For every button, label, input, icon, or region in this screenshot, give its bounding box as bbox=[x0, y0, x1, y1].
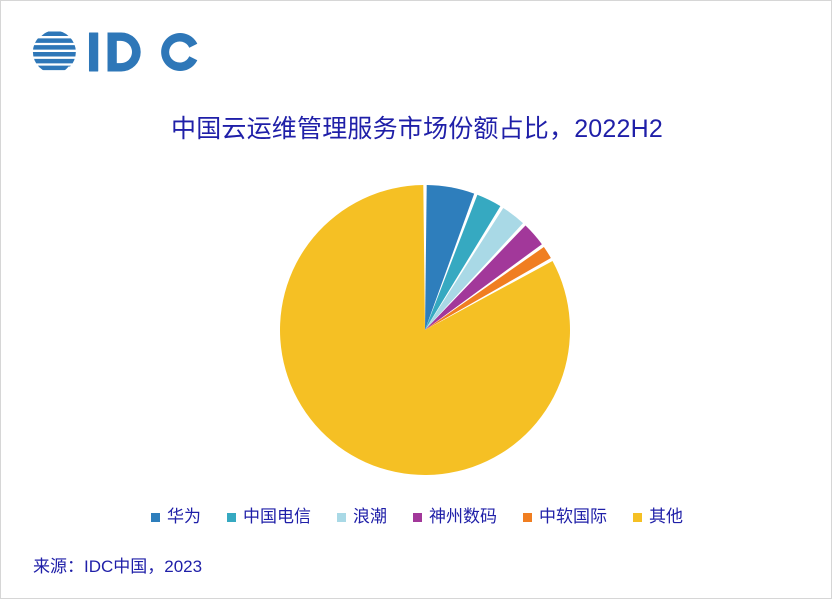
globe-stripes-icon bbox=[29, 29, 80, 75]
pie-chart-plot-area bbox=[1, 161, 832, 491]
legend-swatch-icon bbox=[413, 513, 422, 522]
legend-item[interactable]: 神州数码 bbox=[413, 506, 497, 528]
legend-swatch-icon bbox=[633, 513, 642, 522]
legend-item[interactable]: 其他 bbox=[633, 506, 683, 528]
idc-wordmark-icon bbox=[88, 30, 199, 74]
legend-item-label: 华为 bbox=[167, 506, 201, 528]
idc-logo bbox=[29, 27, 199, 77]
legend-item[interactable]: 中国电信 bbox=[227, 506, 311, 528]
pie-chart bbox=[279, 184, 571, 476]
source-note: 来源：IDC中国，2023 bbox=[33, 555, 202, 579]
legend-item-label: 神州数码 bbox=[429, 506, 497, 528]
chart-legend: 华为中国电信浪潮神州数码中软国际其他 bbox=[1, 506, 832, 528]
legend-swatch-icon bbox=[151, 513, 160, 522]
legend-item[interactable]: 中软国际 bbox=[523, 506, 607, 528]
legend-item-label: 中软国际 bbox=[539, 506, 607, 528]
legend-swatch-icon bbox=[523, 513, 532, 522]
legend-swatch-icon bbox=[227, 513, 236, 522]
legend-item-label: 中国电信 bbox=[243, 506, 311, 528]
slide-canvas: 中国云运维管理服务市场份额占比，2022H2 华为中国电信浪潮神州数码中软国际其… bbox=[0, 0, 832, 599]
legend-item-label: 浪潮 bbox=[353, 506, 387, 528]
legend-item[interactable]: 浪潮 bbox=[337, 506, 387, 528]
pie-slice-group bbox=[280, 185, 570, 475]
legend-item[interactable]: 华为 bbox=[151, 506, 201, 528]
legend-item-label: 其他 bbox=[649, 506, 683, 528]
legend-swatch-icon bbox=[337, 513, 346, 522]
chart-title: 中国云运维管理服务市场份额占比，2022H2 bbox=[1, 112, 832, 146]
